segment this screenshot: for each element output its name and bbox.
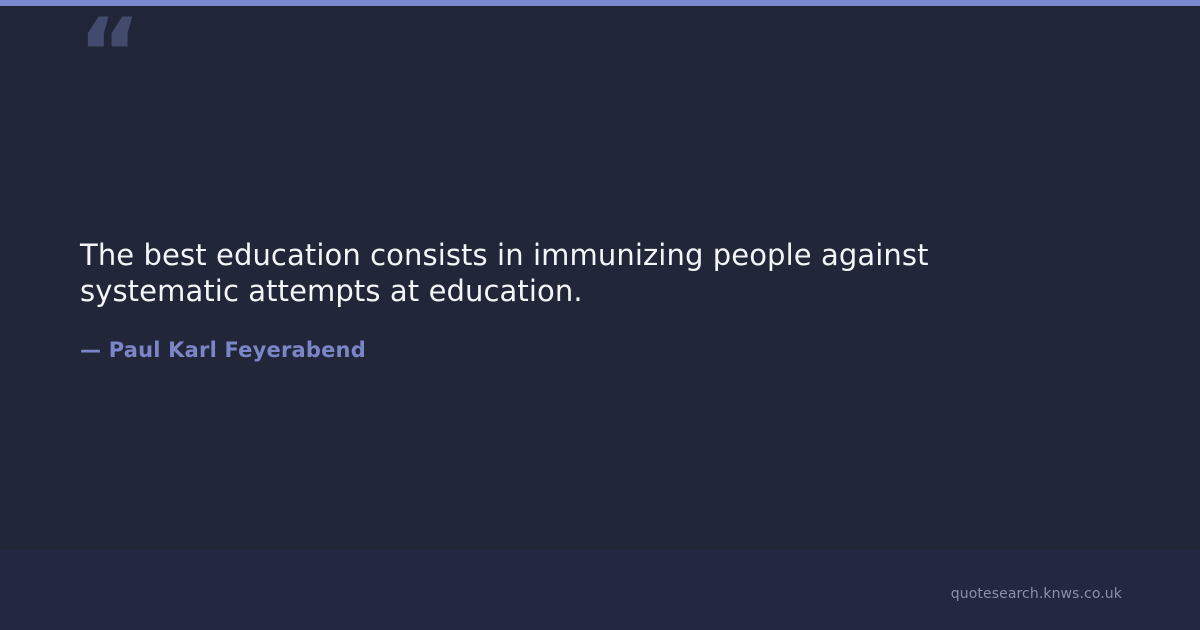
quote-attribution: — Paul Karl Feyerabend — [80, 310, 1100, 363]
quote-card: “ The best education consists in immuniz… — [0, 0, 1200, 630]
top-accent-bar — [0, 0, 1200, 6]
quotation-mark-icon: “ — [78, 6, 139, 102]
quote-text: The best education consists in immunizin… — [80, 238, 1030, 310]
quote-content: The best education consists in immunizin… — [80, 238, 1100, 363]
site-watermark: quotesearch.knws.co.uk — [951, 586, 1122, 602]
background-band-upper — [0, 6, 1200, 150]
